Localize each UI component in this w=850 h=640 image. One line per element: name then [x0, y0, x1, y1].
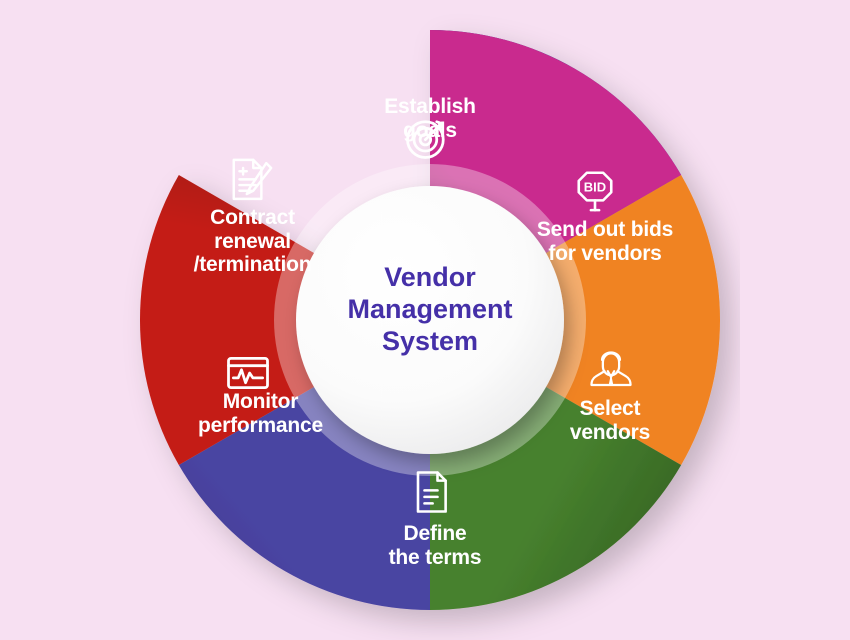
wheel-svg — [120, 0, 740, 640]
diagram-canvas: BID — [0, 0, 850, 640]
vendor-management-wheel: BID — [120, 0, 740, 640]
hub-circle — [296, 186, 564, 454]
